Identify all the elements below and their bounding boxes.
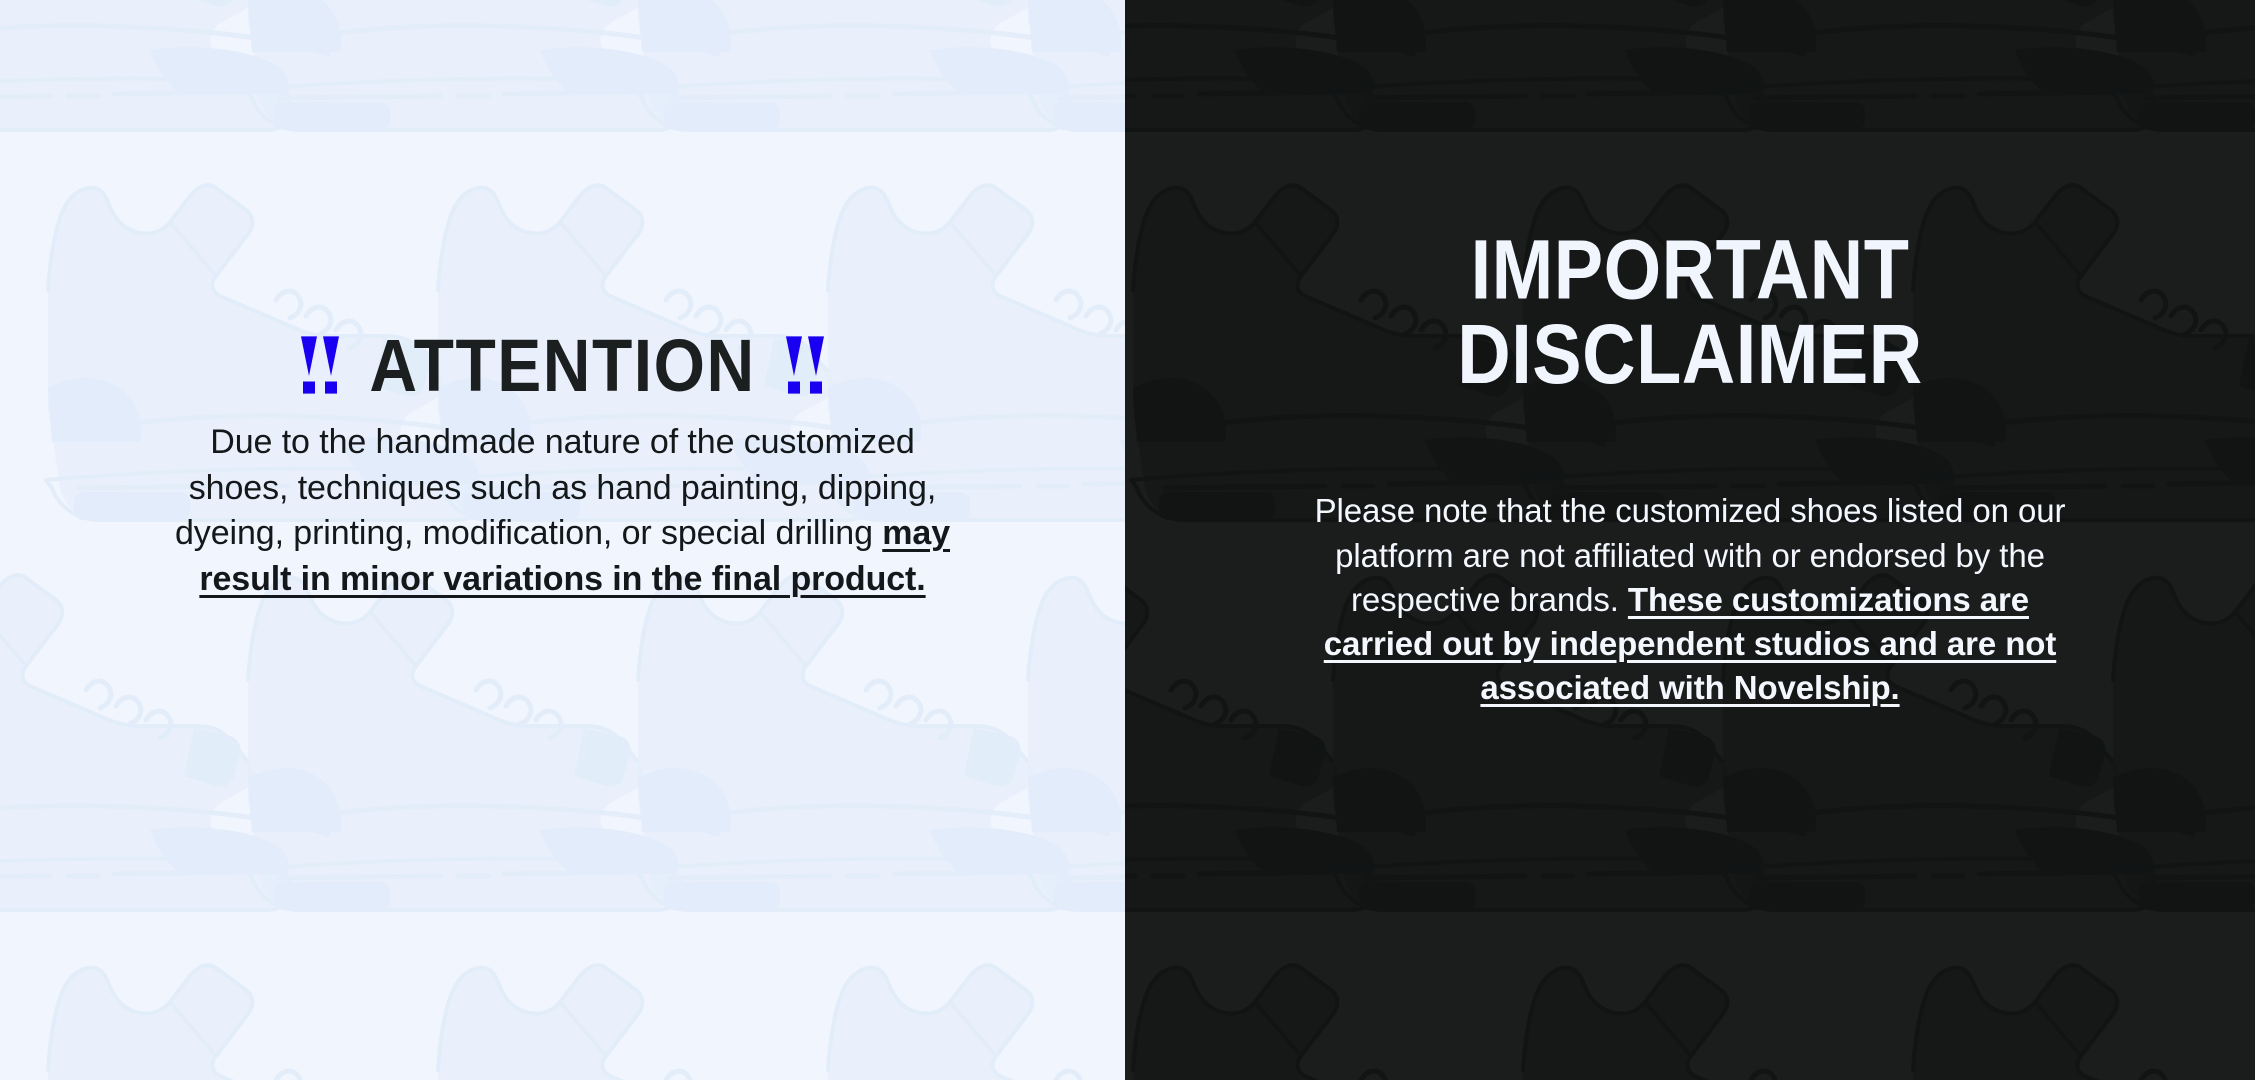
disclaimer-content: IMPORTANT DISCLAIMER Please note that th… (1125, 0, 2255, 1080)
attention-content: ATTENTION Due to the handmade nature of … (0, 0, 1125, 1080)
attention-body-text: Due to the handmade nature of the custom… (158, 420, 968, 602)
double-exclamation-left-icon (301, 336, 339, 393)
attention-heading: ATTENTION (301, 332, 823, 398)
disclaimer-heading-line1: IMPORTANT (1200, 228, 2180, 312)
disclaimer-panel: IMPORTANT DISCLAIMER Please note that th… (1125, 0, 2255, 1080)
disclaimer-banner: ATTENTION Due to the handmade nature of … (0, 0, 2255, 1080)
attention-panel: ATTENTION Due to the handmade nature of … (0, 0, 1125, 1080)
disclaimer-heading: IMPORTANT DISCLAIMER (1200, 228, 2180, 397)
double-exclamation-right-icon (786, 336, 824, 393)
disclaimer-body-text: Please note that the customized shoes li… (1295, 489, 2085, 710)
attention-heading-text: ATTENTION (369, 328, 755, 402)
attention-body-normal: Due to the handmade nature of the custom… (175, 423, 936, 552)
disclaimer-heading-line2: DISCLAIMER (1200, 312, 2180, 396)
